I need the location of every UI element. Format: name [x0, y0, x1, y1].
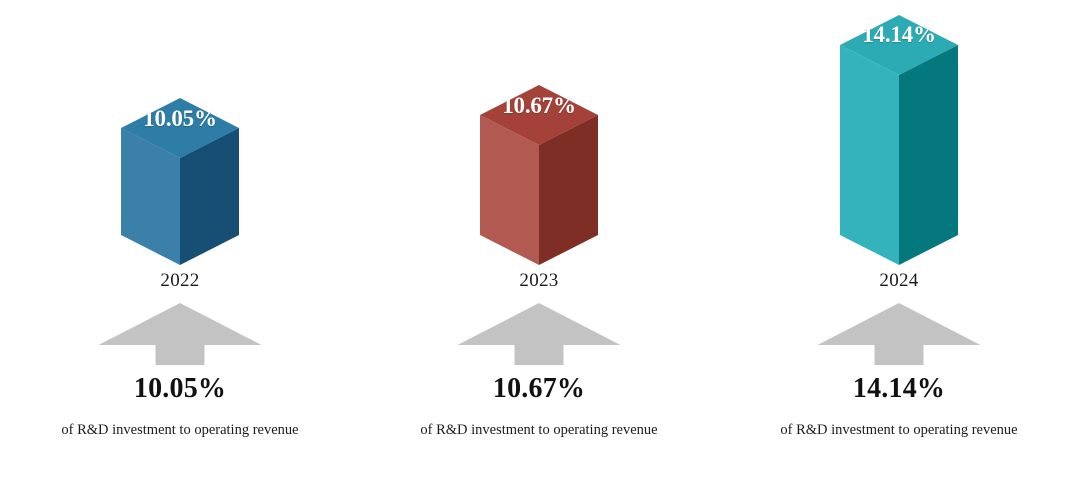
metric-caption-2024: of R&D investment to operating revenue — [769, 421, 1029, 441]
percent-value-2022: 10.05% — [0, 373, 360, 405]
up-arrow-icon-2023 — [458, 303, 621, 365]
metric-caption-2022: of R&D investment to operating revenue — [50, 421, 310, 441]
bar-3d-2024: 14.14% — [719, 0, 1079, 270]
year-label-2022: 2022 — [0, 270, 360, 292]
metric-column-2022: 10.05% 2022 10.05% of R&D investment to … — [0, 0, 360, 490]
bar-3d-2024-shape — [836, 15, 962, 270]
percent-value-2024: 14.14% — [719, 373, 1079, 405]
year-label-2023: 2023 — [359, 270, 719, 292]
bar-3d-2022-shape — [117, 98, 243, 270]
metric-caption-2023: of R&D investment to operating revenue — [409, 421, 669, 441]
bar-3d-2023-shape — [476, 85, 602, 270]
bar-right-face-2024 — [899, 45, 958, 265]
rnd-investment-infographic: 10.05% 2022 10.05% of R&D investment to … — [0, 0, 1079, 490]
bar-3d-2023: 10.67% — [359, 0, 719, 270]
year-label-2024: 2024 — [719, 270, 1079, 292]
bar-left-face-2024 — [840, 45, 899, 265]
up-arrow-icon-2024 — [818, 303, 981, 365]
metric-column-2024: 14.14% 2024 14.14% of R&D investment to … — [719, 0, 1079, 490]
metric-column-2023: 10.67% 2023 10.67% of R&D investment to … — [359, 0, 719, 490]
up-arrow-icon-2022 — [99, 303, 262, 365]
bar-3d-2022: 10.05% — [0, 0, 360, 270]
percent-value-2023: 10.67% — [359, 373, 719, 405]
